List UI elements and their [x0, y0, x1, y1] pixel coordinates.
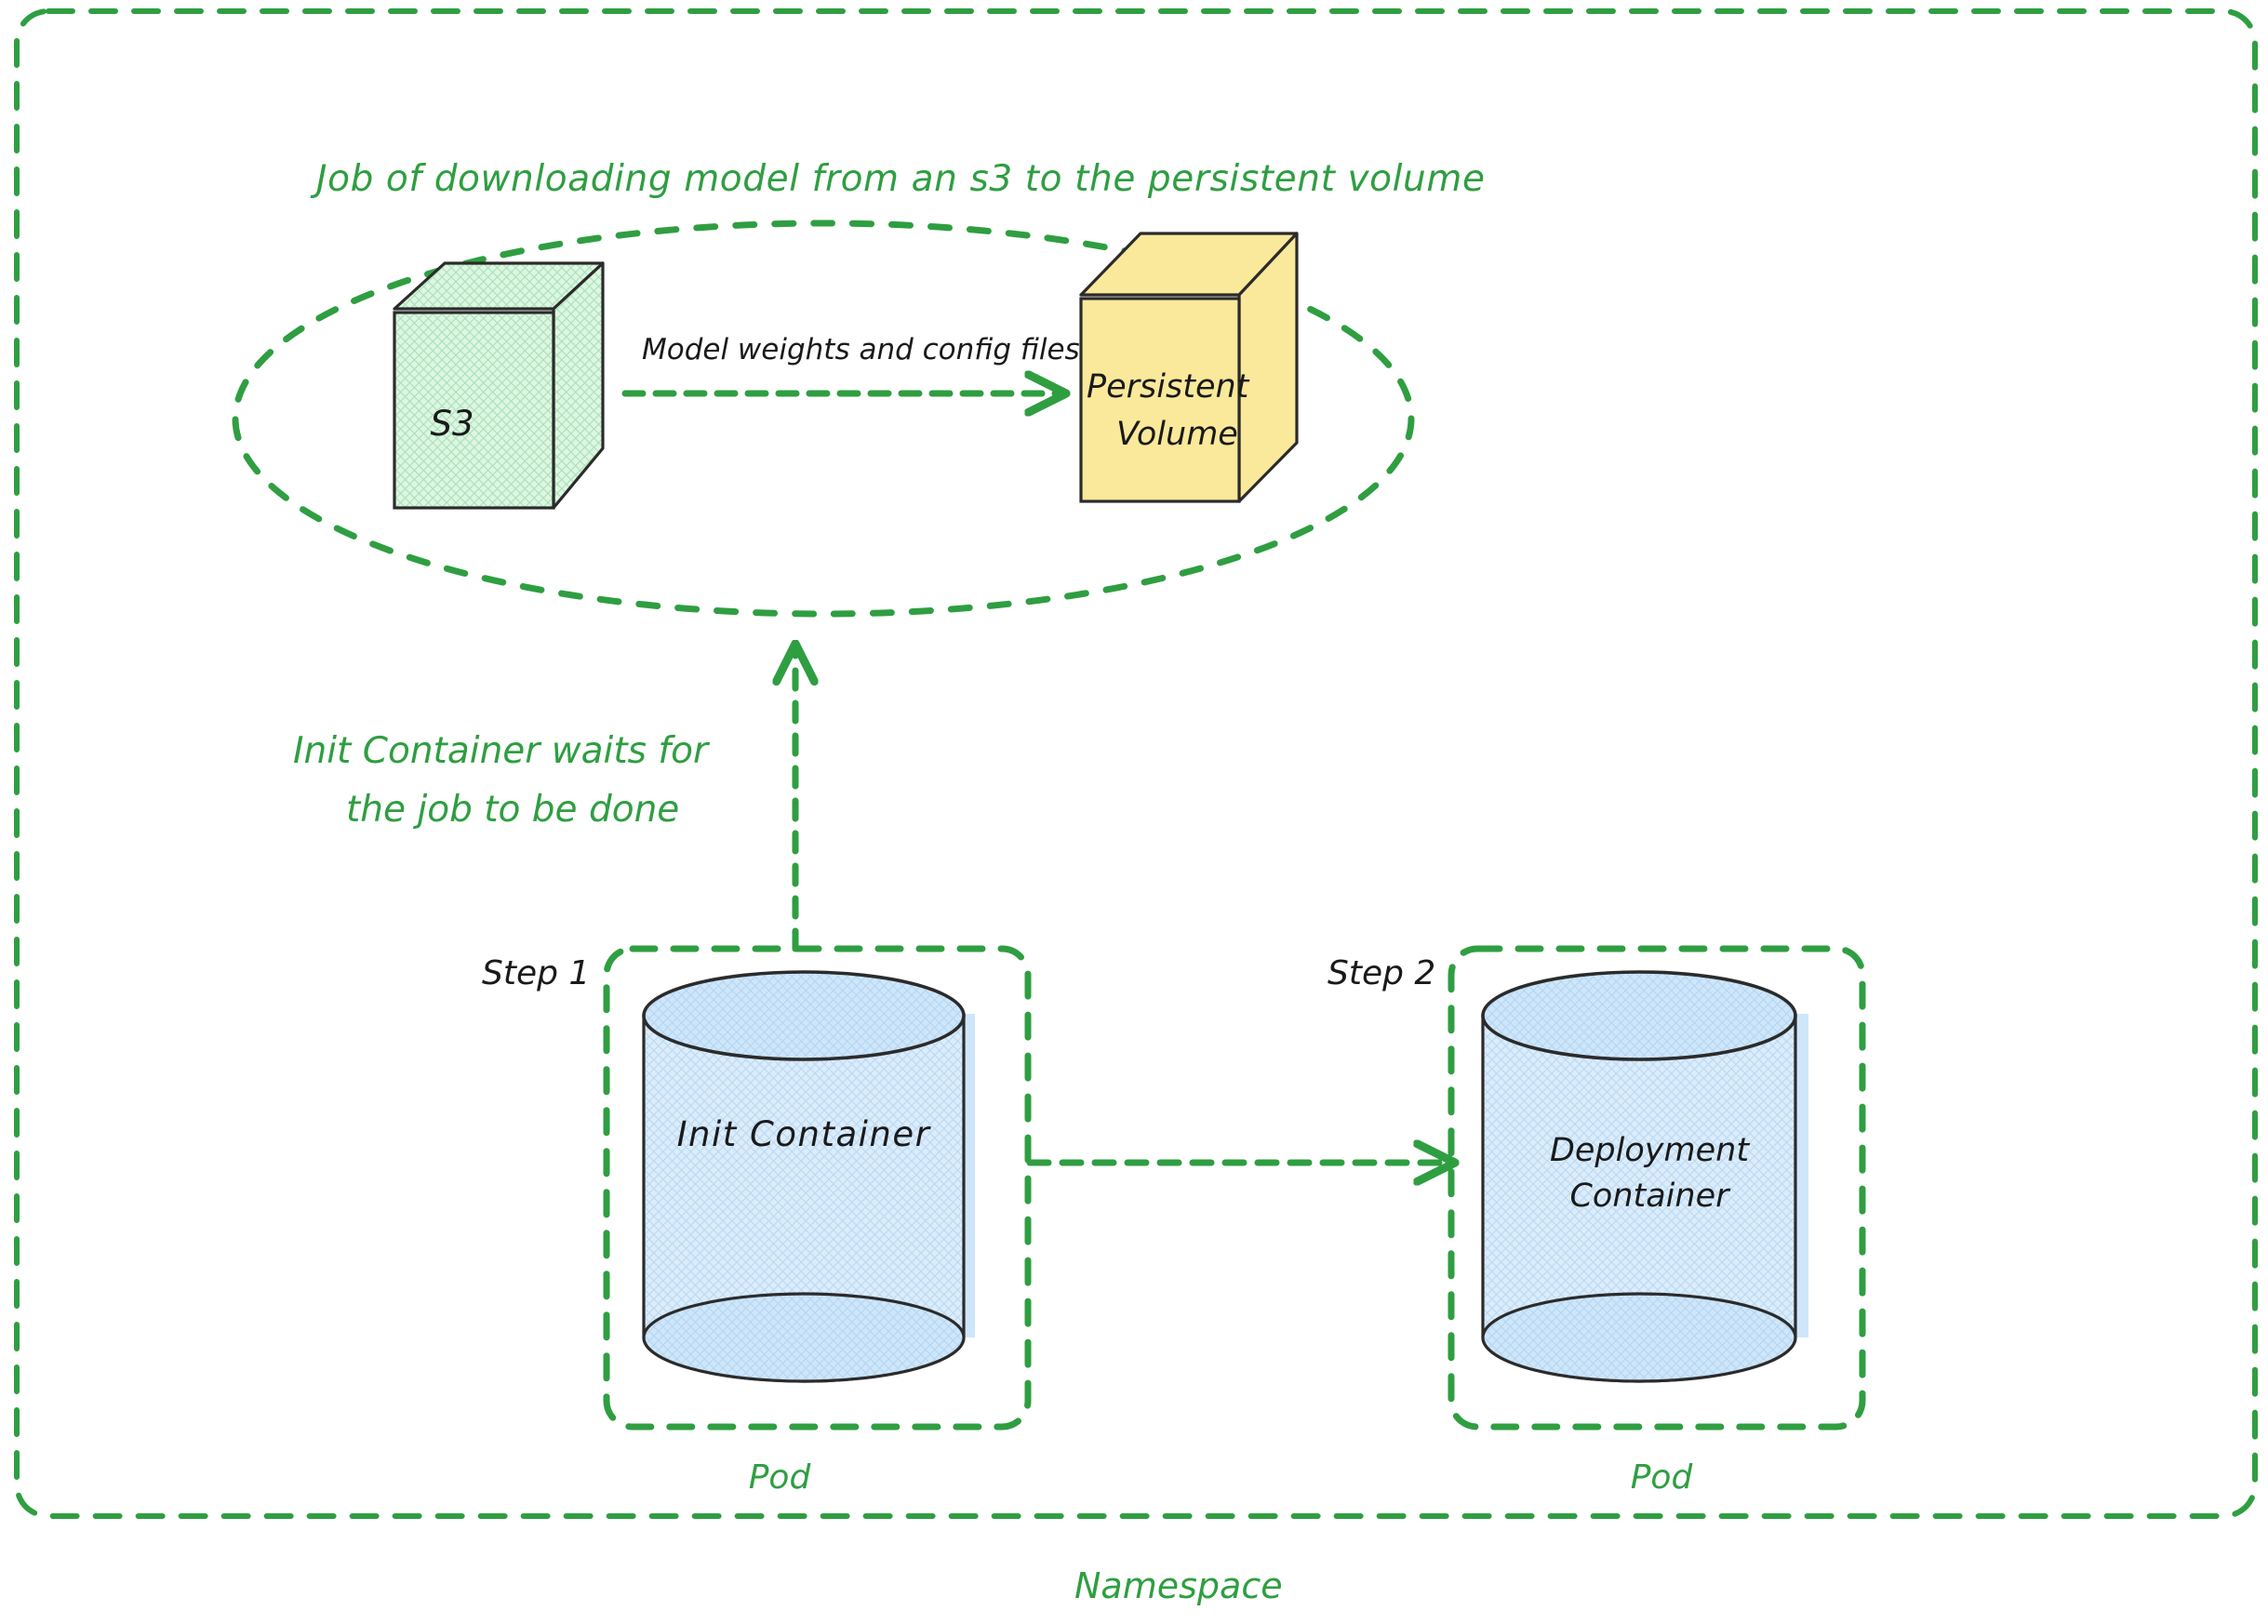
pod-2-label: Pod: [1631, 1458, 1694, 1497]
deployment-container-cylinder[interactable]: Deployment Container: [1483, 972, 1808, 1381]
deployment-container-label-line2: Container: [1569, 1178, 1731, 1215]
model-transfer-arrow-label: Model weights and config files: [642, 333, 1080, 366]
s3-label: S3: [430, 404, 474, 444]
init-container-cylinder[interactable]: Init Container: [644, 972, 975, 1381]
pod-1-step-label: Step 1: [482, 954, 590, 992]
job-title: Job of downloading model from an s3 to t…: [310, 158, 1486, 200]
init-container-label-line1: Init Container: [677, 1114, 932, 1154]
persistent-volume-cube[interactable]: Persistent Volume: [1081, 233, 1297, 501]
persistent-volume-label-line2: Volume: [1116, 416, 1238, 453]
persistent-volume-label-line1: Persistent: [1087, 368, 1250, 406]
diagram-canvas: Job of downloading model from an s3 to t…: [0, 0, 2268, 1624]
init-container-wait-label-line1: Init Container waits for: [293, 730, 711, 772]
deployment-container-label-line1: Deployment: [1550, 1132, 1750, 1169]
s3-cube[interactable]: S3: [394, 263, 603, 508]
pod-2-step-label: Step 2: [1327, 954, 1435, 992]
namespace-label: Namespace: [1074, 1565, 1283, 1606]
init-container-wait-label-line2: the job to be done: [346, 789, 679, 831]
architecture-diagram: Job of downloading model from an s3 to t…: [0, 0, 2268, 1624]
pod-1-label: Pod: [749, 1458, 812, 1497]
